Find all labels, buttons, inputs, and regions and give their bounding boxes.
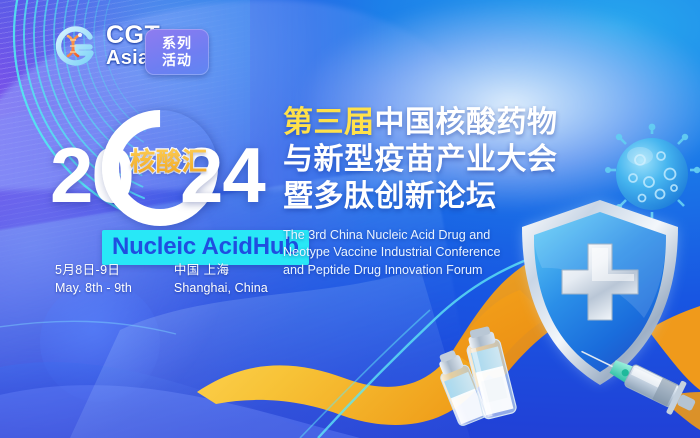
title-line-1-rest: 中国核酸药物 bbox=[375, 106, 558, 139]
event-location: 中国 上海 Shanghai, China bbox=[174, 262, 268, 298]
conference-title-block: 第三届中国核酸药物 与新型疫苗产业大会 暨多肽创新论坛 The 3rd Chin… bbox=[283, 104, 583, 280]
subtitle-line-2: Neotype Vaccine Industrial Conference bbox=[283, 244, 583, 262]
date-en: May. 8th - 9th bbox=[55, 280, 132, 298]
nucleic-acidhub-banner: Nucleic AcidHub bbox=[102, 230, 309, 265]
subtitle-line-1: The 3rd China Nucleic Acid Drug and bbox=[283, 227, 583, 245]
nucleic-acidhub-label: Nucleic AcidHub bbox=[112, 233, 299, 260]
year-lockup: 20 24 核酸汇 核酸汇 Nucleic AcidHub bbox=[50, 120, 255, 250]
place-cn: 中国 上海 bbox=[174, 262, 268, 280]
event-date: 5月8日-9日 May. 8th - 9th bbox=[55, 262, 132, 298]
conference-subtitle-block: The 3rd China Nucleic Acid Drug and Neot… bbox=[283, 227, 583, 281]
syringe-icon bbox=[572, 330, 700, 426]
title-line-1-highlight: 第三届 bbox=[283, 106, 375, 139]
title-line-1: 第三届中国核酸药物 bbox=[283, 104, 583, 141]
badge-line-1: 系列 bbox=[162, 36, 192, 52]
event-meta: 5月8日-9日 May. 8th - 9th 中国 上海 Shanghai, C… bbox=[55, 262, 268, 298]
title-line-3: 暨多肽创新论坛 bbox=[283, 178, 583, 215]
series-event-badge: 系列 活动 bbox=[145, 29, 209, 75]
cgt-dna-circle-icon bbox=[50, 22, 98, 70]
conference-banner: CGT Asia 系列 活动 20 24 核酸汇 核酸汇 Nucleic Aci… bbox=[0, 0, 700, 438]
date-cn: 5月8日-9日 bbox=[55, 262, 132, 280]
subtitle-line-3: and Peptide Drug Innovation Forum bbox=[283, 262, 583, 280]
cgt-asia-logo[interactable]: CGT Asia bbox=[50, 22, 160, 70]
badge-line-2: 活动 bbox=[162, 53, 192, 69]
vaccine-vial-icon bbox=[424, 326, 550, 438]
chinese-mark-fill: 核酸汇 bbox=[130, 142, 208, 178]
place-en: Shanghai, China bbox=[174, 280, 268, 298]
title-line-2: 与新型疫苗产业大会 bbox=[283, 141, 583, 178]
